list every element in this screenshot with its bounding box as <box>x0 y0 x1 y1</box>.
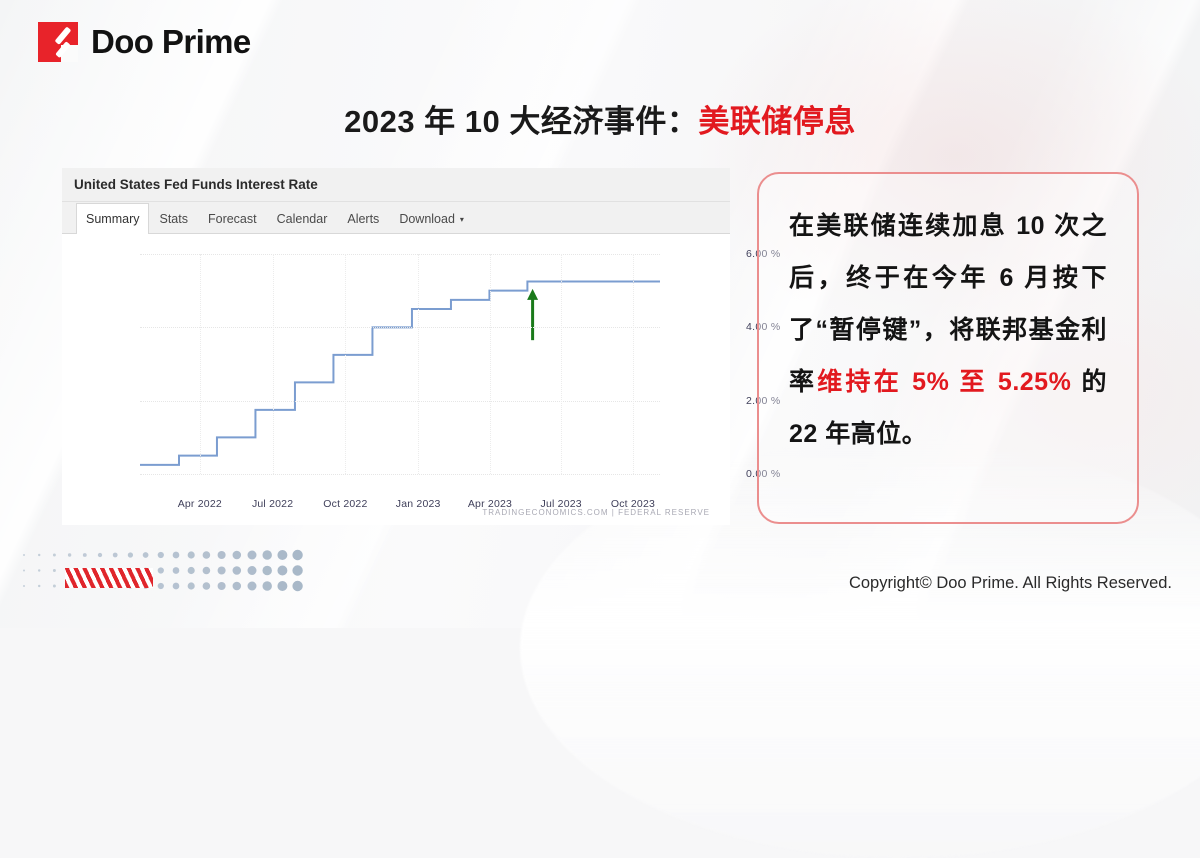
decorative-dot <box>248 551 257 560</box>
chart-gridline-horizontal <box>140 401 660 402</box>
commentary-segment-highlight: 维持在 5% 至 5.25% <box>817 368 1071 396</box>
commentary-card: 在美联储连续加息 10 次之后，终于在今年 6 月按下了“暂停键”，将联邦基金利… <box>757 172 1139 524</box>
chart-gridline-vertical <box>633 254 634 474</box>
chart-panel: United States Fed Funds Interest Rate Su… <box>62 168 730 525</box>
decorative-dot <box>38 585 40 587</box>
decorative-dot <box>292 550 302 560</box>
decorative-dot <box>38 569 40 571</box>
chart-gridline-vertical <box>561 254 562 474</box>
chart-x-axis-label: Oct 2022 <box>323 498 367 510</box>
decorative-dot <box>203 567 211 575</box>
decorative-dot <box>53 569 56 572</box>
chart-tab-stats[interactable]: Stats <box>149 203 198 234</box>
chart-tab-download[interactable]: Download▾ <box>389 203 474 234</box>
chart-tab-summary[interactable]: Summary <box>76 203 149 234</box>
decorative-dot <box>173 567 180 574</box>
chart-tab-calendar[interactable]: Calendar <box>267 203 338 234</box>
decorative-dot <box>23 570 25 572</box>
decorative-dot <box>53 585 56 588</box>
chart-tab-label: Alerts <box>347 212 379 226</box>
decorative-dot <box>158 583 164 589</box>
decorative-dot <box>292 565 302 575</box>
decorative-dot <box>277 566 287 576</box>
decorative-dot <box>248 582 257 591</box>
annotation-arrow-head <box>527 289 538 300</box>
chart-tab-bar[interactable]: SummaryStatsForecastCalendarAlertsDownlo… <box>62 202 730 234</box>
decorative-dot <box>68 553 71 556</box>
chart-gridline-vertical <box>200 254 201 474</box>
chart-canvas: 0.00 %2.00 %4.00 %6.00 %Apr 2022Jul 2022… <box>140 254 660 474</box>
decorative-dot <box>218 582 226 590</box>
chevron-down-icon: ▾ <box>460 215 464 224</box>
page-title-highlight: 美联储停息 <box>698 104 856 139</box>
decorative-dot <box>188 567 195 574</box>
chart-gridline-vertical <box>345 254 346 474</box>
decorative-dot <box>158 567 164 573</box>
chart-x-axis-label: Jan 2023 <box>396 498 441 510</box>
page-title: 2023 年 10 大经济事件：美联储停息 <box>0 96 1200 141</box>
dot-grid-pattern-icon <box>18 548 318 594</box>
chart-tab-label: Calendar <box>277 212 328 226</box>
decorative-dot <box>218 566 226 574</box>
page-title-main: 2023 年 10 大经济事件： <box>344 104 698 139</box>
chart-tab-alerts[interactable]: Alerts <box>337 203 389 234</box>
decorative-dot <box>83 553 87 557</box>
chart-gridline-horizontal <box>140 474 660 475</box>
chart-title: United States Fed Funds Interest Rate <box>74 177 318 192</box>
decorative-dot <box>128 552 133 557</box>
chart-gridline-vertical <box>418 254 419 474</box>
commentary-text: 在美联储连续加息 10 次之后，终于在今年 6 月按下了“暂停键”，将联邦基金利… <box>789 200 1107 460</box>
decorative-dot <box>218 551 226 559</box>
chart-tab-label: Forecast <box>208 212 257 226</box>
decorative-dot <box>173 552 180 559</box>
chart-tab-label: Summary <box>86 212 139 226</box>
copyright-notice: Copyright© Doo Prime. All Rights Reserve… <box>849 574 1172 593</box>
up-arrow-annotation-icon <box>140 254 660 474</box>
chart-gridline-horizontal <box>140 327 660 328</box>
decorative-dot <box>188 551 195 558</box>
decorative-dot <box>23 554 25 556</box>
decorative-dot <box>262 581 271 590</box>
chart-gridline-vertical <box>273 254 274 474</box>
decorative-dot <box>233 566 242 575</box>
decorative-dot <box>113 553 118 558</box>
chart-tab-forecast[interactable]: Forecast <box>198 203 267 234</box>
decorative-dot <box>158 552 164 558</box>
decorative-dot <box>277 581 287 591</box>
decorative-dot <box>23 585 25 587</box>
chart-tab-label: Stats <box>159 212 188 226</box>
decorative-dot <box>248 566 257 575</box>
chart-tab-label: Download <box>399 212 455 226</box>
decorative-dot <box>98 553 102 557</box>
diagonal-stripe-pattern-icon <box>65 568 153 588</box>
decorative-dot <box>53 554 56 557</box>
decorative-dot <box>233 582 242 591</box>
decorative-dot <box>203 551 211 559</box>
decorative-dot <box>262 550 271 559</box>
decorative-dot <box>173 583 180 590</box>
doo-prime-mark-icon <box>38 22 78 62</box>
chart-gridline-horizontal <box>140 254 660 255</box>
chart-header: United States Fed Funds Interest Rate <box>62 168 730 202</box>
decorative-dot <box>277 550 287 560</box>
chart-gridline-vertical <box>490 254 491 474</box>
brand-logo: Doo Prime <box>38 22 251 62</box>
chart-source-credit: TRADINGECONOMICS.COM | FEDERAL RESERVE <box>482 508 710 517</box>
decorative-dot <box>38 554 40 556</box>
chart-x-axis-label: Apr 2022 <box>178 498 222 510</box>
decorative-dot <box>203 582 211 590</box>
decorative-dot <box>143 552 149 558</box>
chart-x-axis-label: Jul 2022 <box>252 498 293 510</box>
decorative-dot <box>292 581 302 591</box>
brand-name: Doo Prime <box>91 23 251 61</box>
decorative-dot <box>233 551 242 560</box>
chart-plot-area: 0.00 %2.00 %4.00 %6.00 %Apr 2022Jul 2022… <box>62 234 730 525</box>
decorative-dot <box>262 566 271 575</box>
decorative-dot <box>188 582 195 589</box>
